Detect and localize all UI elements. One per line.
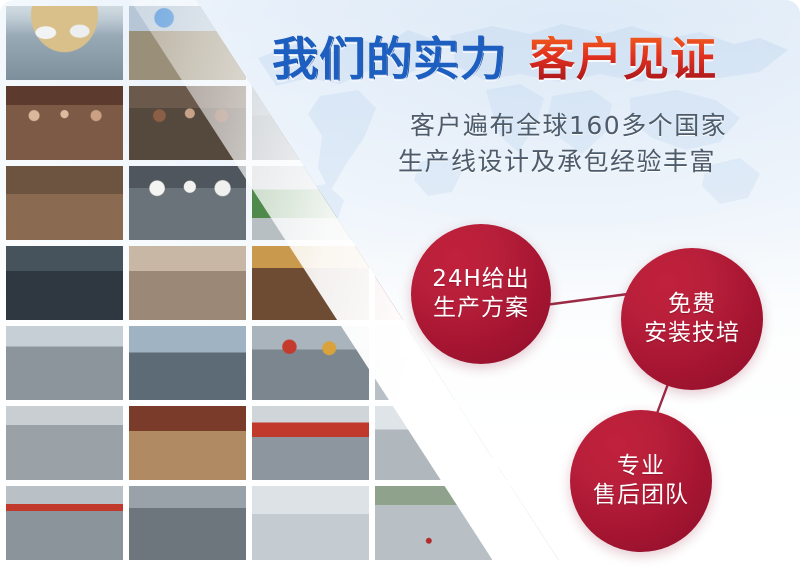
bubble-3-line-2: 售后团队: [593, 481, 689, 510]
collage-photo: [6, 6, 123, 80]
collage-photo: [129, 326, 246, 400]
collage-photo: [129, 246, 246, 320]
bubble-2-line-2: 安装技培: [644, 319, 740, 348]
bubble-3-line-1: 专业: [617, 452, 665, 481]
collage-photo: [6, 166, 123, 240]
headline-secondary: 客户见证: [529, 36, 717, 82]
collage-photo: [252, 486, 369, 560]
subheadline-line-2: 生产线设计及承包经验丰富: [398, 144, 727, 180]
collage-photo: [129, 406, 246, 480]
collage-photo: [129, 486, 246, 560]
collage-photo: [252, 406, 369, 480]
promo-banner: 我们的实力 客户见证 客户遍布全球160多个国家 生产线设计及承包经验丰富 24…: [0, 0, 800, 567]
bubble-2-line-1: 免费: [668, 290, 716, 319]
subheadline: 客户遍布全球160多个国家 生产线设计及承包经验丰富: [410, 108, 727, 179]
collage-photo: [6, 406, 123, 480]
subheadline-line-1: 客户遍布全球160多个国家: [410, 108, 727, 144]
bubble-1-line-1: 24H给出: [432, 265, 530, 294]
collage-photo: [129, 86, 246, 160]
collage-photo: [375, 486, 492, 560]
feature-bubble-professional-after-sales[interactable]: 专业 售后团队: [570, 410, 712, 552]
collage-photo: [6, 326, 123, 400]
collage-photo: [252, 246, 369, 320]
collage-photo: [129, 166, 246, 240]
bubble-1-line-2: 生产方案: [433, 294, 529, 323]
headline: 我们的实力 客户见证: [272, 36, 717, 82]
collage-photo: [6, 86, 123, 160]
collage-photo: [252, 326, 369, 400]
headline-primary: 我们的实力: [272, 36, 507, 82]
collage-photo: [6, 486, 123, 560]
feature-bubble-24h-proposal[interactable]: 24H给出 生产方案: [411, 224, 551, 364]
feature-bubble-free-installation-training[interactable]: 免费 安装技培: [621, 248, 763, 390]
collage-photo: [6, 246, 123, 320]
